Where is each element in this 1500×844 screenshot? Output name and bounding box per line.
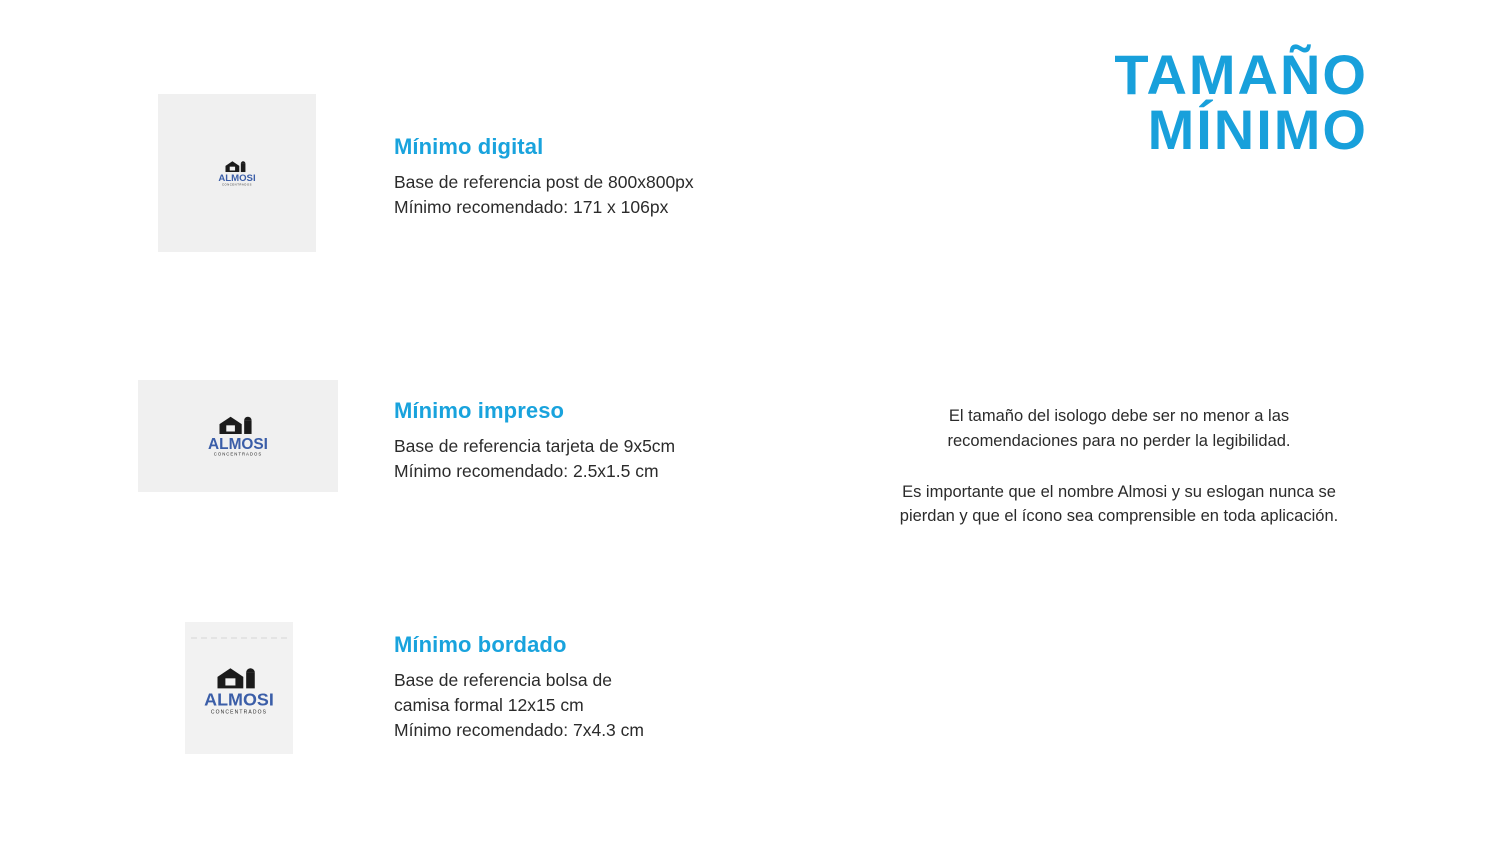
spec-body-impreso: Base de referencia tarjeta de 9x5cm Míni… bbox=[394, 434, 814, 484]
almosi-logo: ALMOSI CONCENTRADOS bbox=[196, 664, 282, 717]
almosi-logo: ALMOSI CONCENTRADOS bbox=[201, 413, 275, 459]
digital-post-swatch: ALMOSI CONCENTRADOS bbox=[158, 94, 316, 252]
note-paragraph-2: Es importante que el nombre Almosi y su … bbox=[868, 480, 1370, 530]
note-paragraph-1: El tamaño del isologo debe ser no menor … bbox=[868, 404, 1370, 454]
spec-text-impreso: Mínimo impreso Base de referencia tarjet… bbox=[394, 398, 814, 484]
spec-text-digital: Mínimo digital Base de referencia post d… bbox=[394, 134, 814, 220]
spec-body-bordado: Base de referencia bolsa de camisa forma… bbox=[394, 668, 814, 743]
spec-heading-impreso: Mínimo impreso bbox=[394, 398, 814, 424]
notes-spacer bbox=[868, 454, 1370, 480]
almosi-logo: ALMOSI CONCENTRADOS bbox=[214, 159, 260, 187]
print-card-swatch: ALMOSI CONCENTRADOS bbox=[138, 380, 338, 492]
logo-tagline: CONCENTRADOS bbox=[211, 709, 267, 715]
barn-silo-icon bbox=[218, 668, 255, 688]
notes-block: El tamaño del isologo debe ser no menor … bbox=[868, 404, 1370, 529]
logo-wordmark: ALMOSI bbox=[204, 690, 274, 710]
spec-text-bordado: Mínimo bordado Base de referencia bolsa … bbox=[394, 632, 814, 743]
spec-body-digital: Base de referencia post de 800x800px Mín… bbox=[394, 170, 814, 220]
page-title: TAMAÑO MÍNIMO bbox=[1114, 48, 1368, 158]
spec-heading-bordado: Mínimo bordado bbox=[394, 632, 814, 658]
barn-silo-icon bbox=[226, 161, 246, 172]
embroidery-pocket-swatch: ALMOSI CONCENTRADOS bbox=[185, 622, 293, 754]
pocket-stitch-line bbox=[191, 637, 287, 639]
spec-heading-digital: Mínimo digital bbox=[394, 134, 814, 160]
logo-wordmark: ALMOSI bbox=[208, 436, 268, 453]
logo-wordmark: ALMOSI bbox=[218, 173, 256, 184]
barn-silo-icon bbox=[220, 417, 252, 434]
logo-tagline: CONCENTRADOS bbox=[214, 452, 262, 457]
